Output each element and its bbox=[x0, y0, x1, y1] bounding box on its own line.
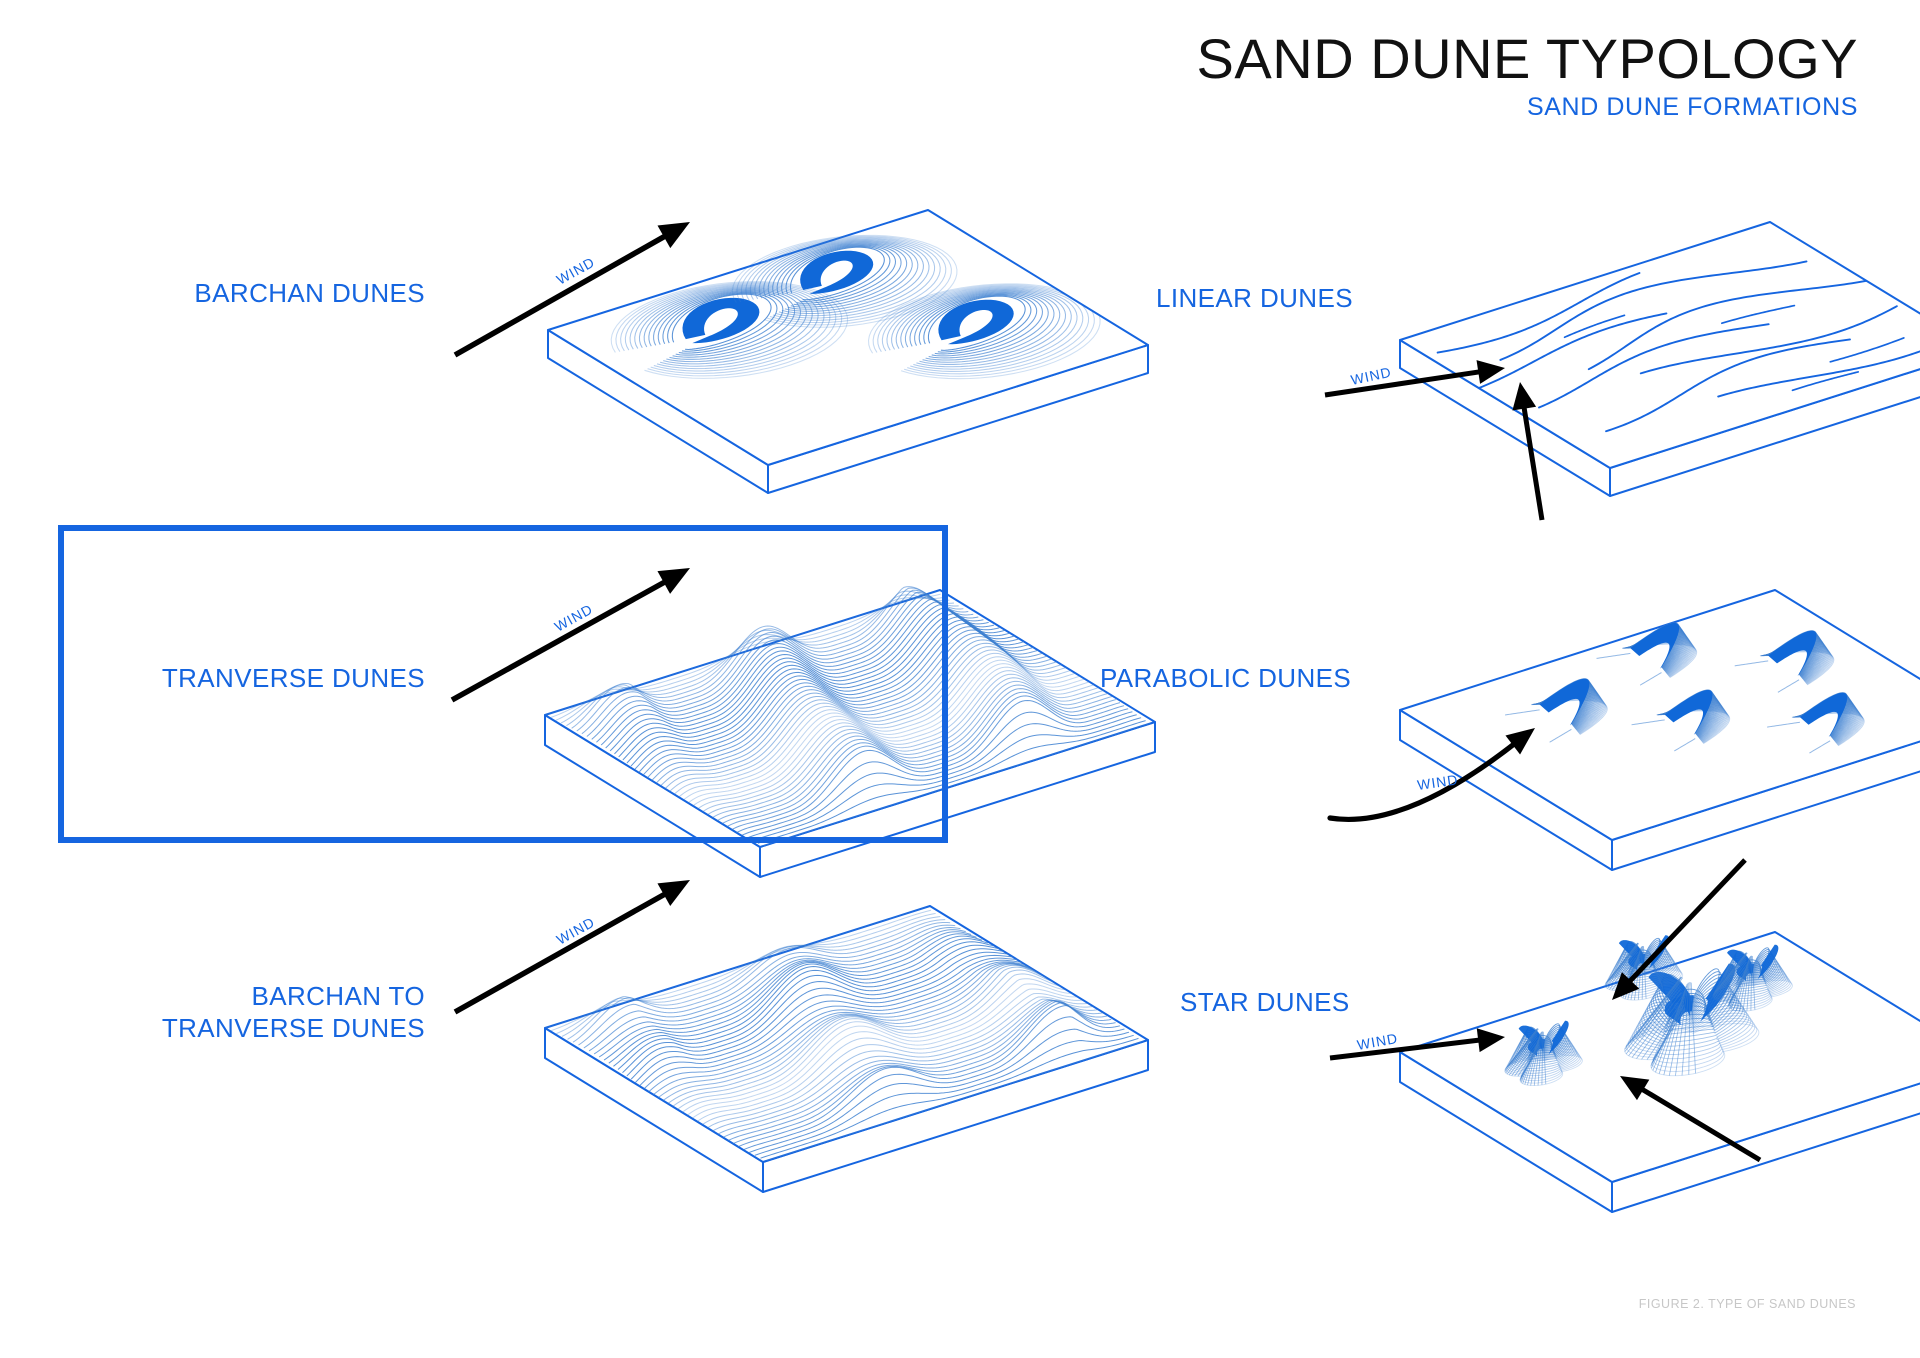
page-subtitle: SAND DUNE FORMATIONS bbox=[1197, 93, 1858, 122]
diagram-canvas: SAND DUNE TYPOLOGY SAND DUNE FORMATIONS … bbox=[0, 0, 1920, 1358]
panel-label-linear: LINEAR DUNES bbox=[1156, 283, 1536, 315]
panel-parabolic: WIND bbox=[1330, 590, 1920, 870]
panel-barchan-to-transverse: WIND bbox=[455, 880, 1148, 1192]
figure-caption: FIGURE 2. TYPE OF SAND DUNES bbox=[1639, 1297, 1856, 1311]
panel-linear: WIND bbox=[1325, 222, 1920, 520]
panel-label-transverse: TRANVERSE DUNES bbox=[40, 663, 425, 695]
panel-label-star: STAR DUNES bbox=[1180, 987, 1560, 1019]
panel-label-parabolic: PARABOLIC DUNES bbox=[1100, 663, 1500, 695]
wind-label: WIND bbox=[1416, 771, 1459, 793]
header: SAND DUNE TYPOLOGY SAND DUNE FORMATIONS bbox=[1197, 30, 1858, 122]
panel-barchan: WIND bbox=[455, 210, 1148, 493]
panel-label-barchan-to-transverse: BARCHAN TO TRANVERSE DUNES bbox=[40, 981, 425, 1044]
page-title: SAND DUNE TYPOLOGY bbox=[1197, 30, 1858, 87]
panel-label-barchan: BARCHAN DUNES bbox=[60, 278, 425, 310]
wind-label: WIND bbox=[554, 254, 598, 288]
panel-star: WIND bbox=[1330, 860, 1920, 1212]
